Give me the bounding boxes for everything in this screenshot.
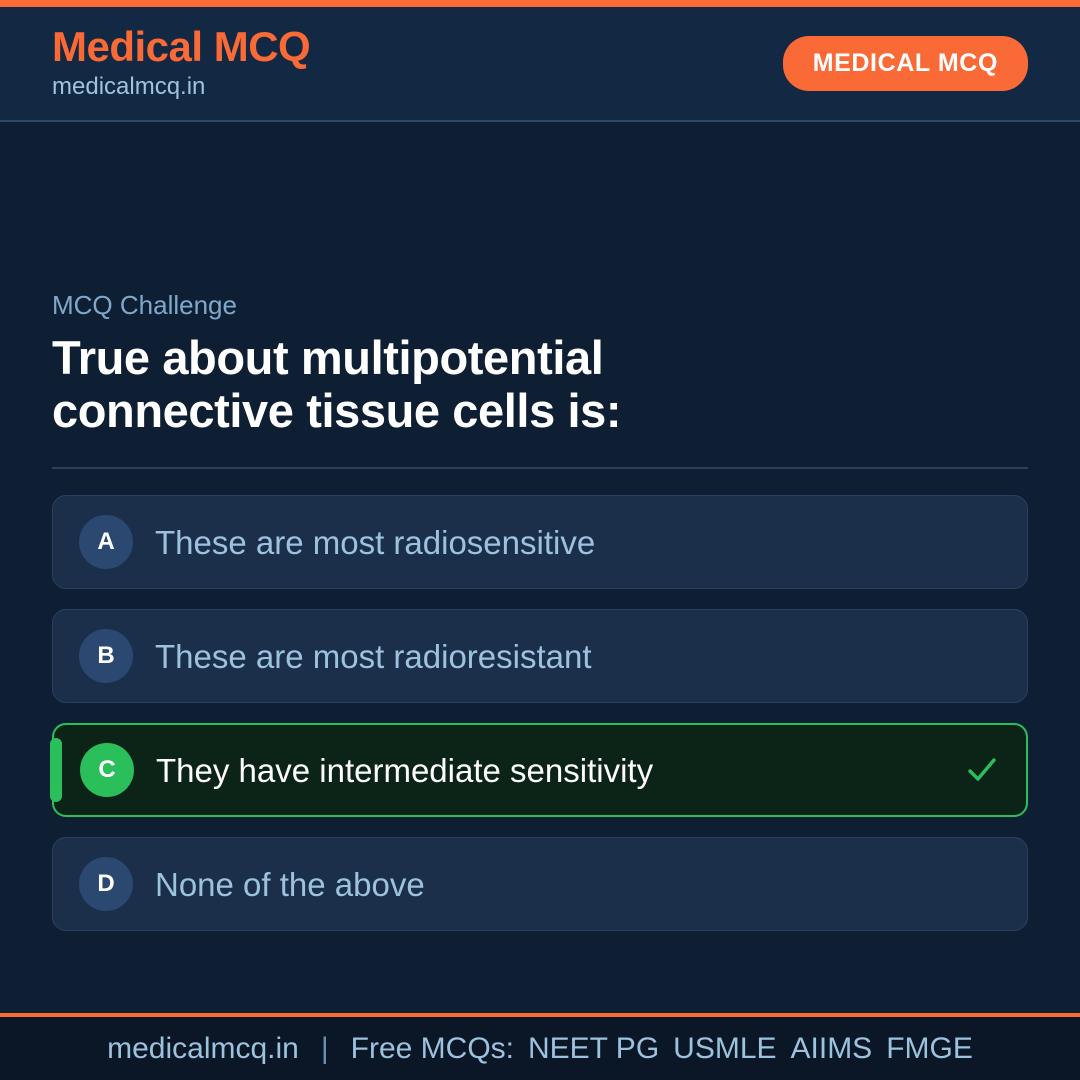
footer-exam-usmle: USMLE (673, 1032, 776, 1066)
option-text: None of the above (155, 865, 1001, 905)
content-area: MCQ Challenge True about multipotential … (0, 122, 1080, 1013)
footer-separator: | (313, 1032, 337, 1066)
question-divider (52, 467, 1028, 469)
option-d[interactable]: D None of the above (52, 837, 1028, 931)
check-icon (964, 752, 1000, 788)
footer-exam-fmge: FMGE (886, 1032, 973, 1066)
header: Medical MCQ medicalmcq.in MEDICAL MCQ (0, 7, 1080, 122)
footer: medicalmcq.in | Free MCQs: NEET PG USMLE… (0, 1013, 1080, 1080)
mcq-card: Medical MCQ medicalmcq.in MEDICAL MCQ MC… (0, 0, 1080, 1080)
top-accent-bar (0, 0, 1080, 7)
question-title: True about multipotential connective tis… (52, 331, 852, 437)
option-text: These are most radioresistant (155, 637, 1001, 677)
option-a[interactable]: A These are most radiosensitive (52, 495, 1028, 589)
footer-exam-neet-pg: NEET PG (528, 1032, 659, 1066)
option-text: These are most radiosensitive (155, 523, 1001, 563)
question-block: MCQ Challenge True about multipotential … (52, 290, 1028, 437)
footer-row: medicalmcq.in | Free MCQs: NEET PG USMLE… (107, 1032, 973, 1066)
footer-exam-aiims: AIIMS (791, 1032, 873, 1066)
footer-label: Free MCQs: (351, 1032, 514, 1066)
option-letter-badge: D (79, 857, 133, 911)
options-list: A These are most radiosensitive B These … (52, 495, 1028, 931)
brand-subtitle: medicalmcq.in (52, 71, 310, 102)
footer-site: medicalmcq.in (107, 1032, 299, 1066)
correct-accent-bar (50, 738, 62, 802)
option-letter-badge: C (80, 743, 134, 797)
option-text: They have intermediate sensitivity (156, 751, 948, 791)
question-eyebrow: MCQ Challenge (52, 290, 1028, 321)
brand: Medical MCQ medicalmcq.in (52, 25, 310, 102)
header-badge: MEDICAL MCQ (783, 36, 1028, 91)
option-c[interactable]: C They have intermediate sensitivity (52, 723, 1028, 817)
option-letter-badge: B (79, 629, 133, 683)
option-letter-badge: A (79, 515, 133, 569)
brand-title: Medical MCQ (52, 25, 310, 69)
option-b[interactable]: B These are most radioresistant (52, 609, 1028, 703)
